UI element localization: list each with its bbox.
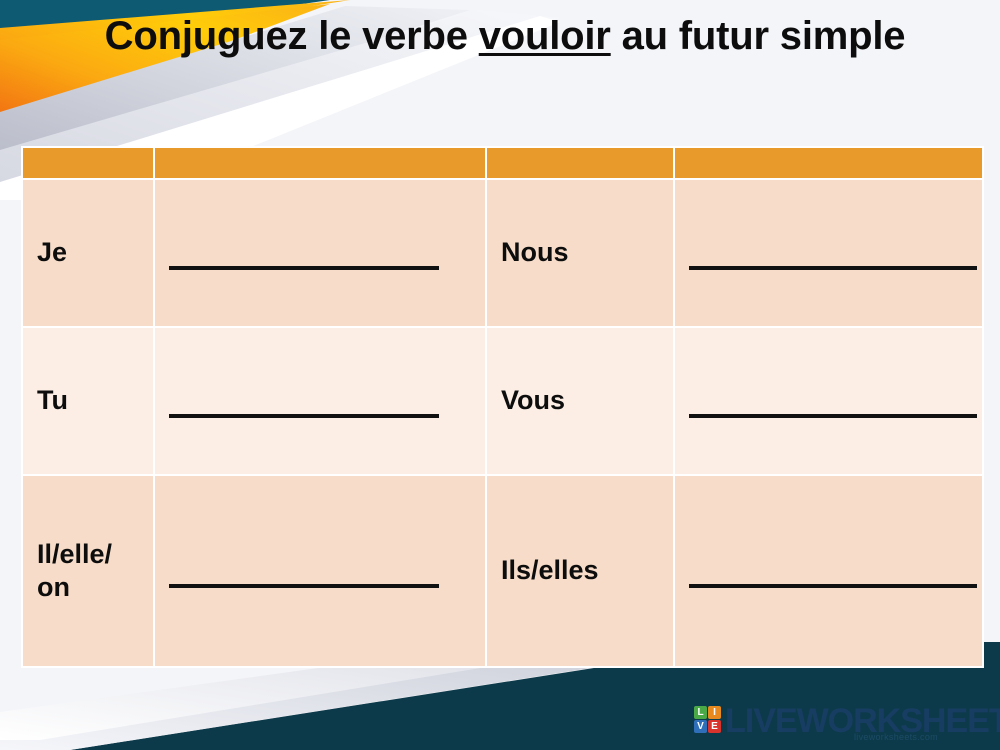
liveworksheets-sub-text: liveworksheets.com [854, 732, 938, 742]
logo-letter-l: L [694, 706, 707, 719]
table-row: Tu Vous [22, 327, 983, 475]
table-header-row [22, 147, 983, 179]
pronoun-label: Vous [501, 385, 565, 415]
page-title: Conjuguez le verbe vouloir au futur simp… [60, 12, 950, 61]
pronoun-label: Il/elle/ on [37, 539, 112, 602]
answer-blank-nous[interactable] [674, 179, 983, 327]
blank-line[interactable] [689, 398, 977, 418]
liveworksheets-logo-icon: L I V E [694, 706, 721, 733]
answer-blank-il-elle-on[interactable] [154, 475, 486, 667]
answer-blank-je[interactable] [154, 179, 486, 327]
blank-line[interactable] [169, 398, 439, 418]
pronoun-ils-elles: Ils/elles [486, 475, 674, 667]
answer-blank-vous[interactable] [674, 327, 983, 475]
pronoun-vous: Vous [486, 327, 674, 475]
pronoun-je: Je [22, 179, 154, 327]
table-header-cell-2 [154, 147, 486, 179]
table-row: Je Nous [22, 179, 983, 327]
conjugation-table-wrapper: Je Nous Tu Vous Il/elle/ on Ils/elles [21, 146, 982, 668]
table-header-cell-3 [486, 147, 674, 179]
blank-line[interactable] [169, 568, 439, 588]
logo-letter-i: I [708, 706, 721, 719]
pronoun-label: Nous [501, 237, 569, 267]
table-row: Il/elle/ on Ils/elles [22, 475, 983, 667]
pronoun-label: Ils/elles [501, 555, 599, 585]
title-prefix: Conjuguez le verbe [105, 14, 479, 58]
pronoun-nous: Nous [486, 179, 674, 327]
table-header-cell-1 [22, 147, 154, 179]
table-header-cell-4 [674, 147, 983, 179]
logo-letter-e: E [708, 720, 721, 733]
blank-line[interactable] [689, 568, 977, 588]
answer-blank-tu[interactable] [154, 327, 486, 475]
answer-blank-ils-elles[interactable] [674, 475, 983, 667]
title-suffix: au futur simple [611, 14, 906, 58]
title-underlined-word: vouloir [479, 14, 611, 58]
blank-line[interactable] [689, 250, 977, 270]
liveworksheets-brand-text: LIVEWORKSHEETS [725, 704, 1000, 738]
pronoun-tu: Tu [22, 327, 154, 475]
blank-line[interactable] [169, 250, 439, 270]
logo-letter-v: V [694, 720, 707, 733]
liveworksheets-watermark: L I V E LIVEWORKSHEETS liveworksheets.co… [694, 702, 1000, 744]
pronoun-il-elle-on: Il/elle/ on [22, 475, 154, 667]
conjugation-table: Je Nous Tu Vous Il/elle/ on Ils/elles [21, 146, 984, 668]
pronoun-label: Tu [37, 385, 68, 415]
pronoun-label: Je [37, 237, 67, 267]
